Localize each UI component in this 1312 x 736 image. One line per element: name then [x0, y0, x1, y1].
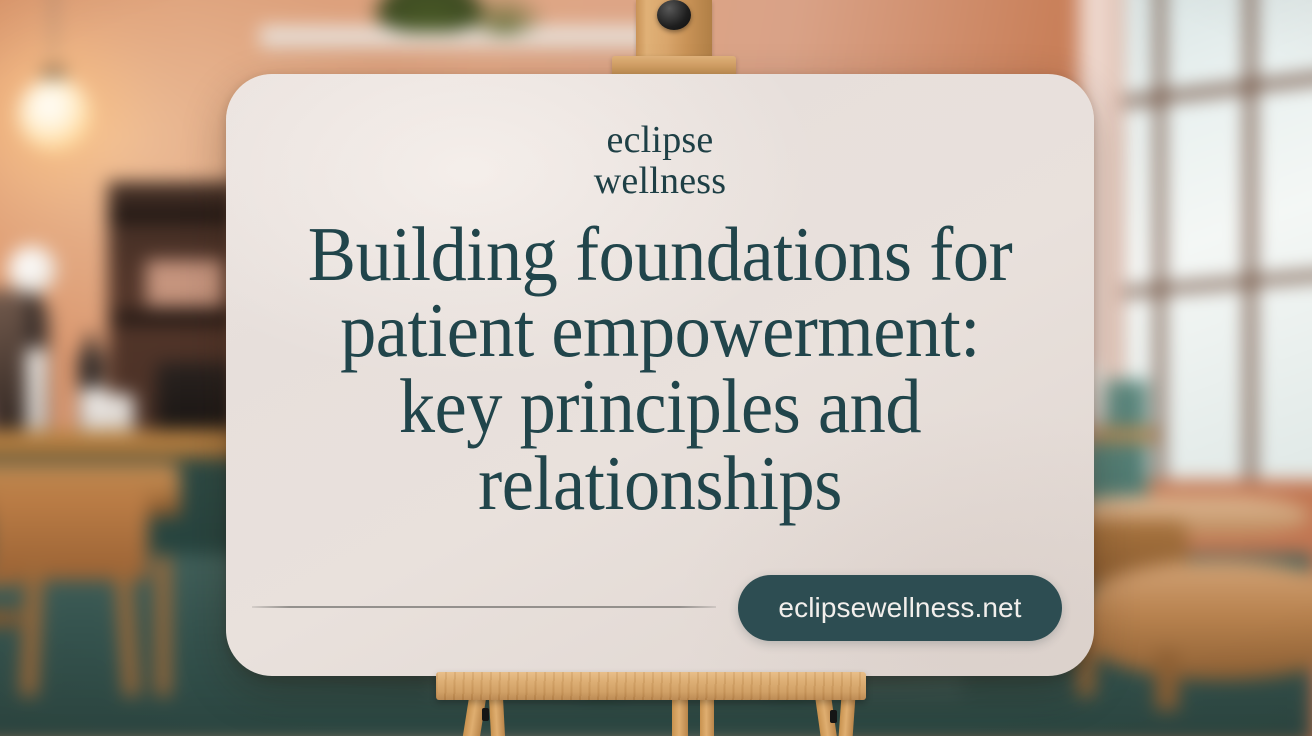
round-table-right [1080, 560, 1312, 680]
sign-board: eclipse wellness Building foundations fo… [226, 74, 1094, 676]
promo-graphic-canvas: eclipse wellness Building foundations fo… [0, 0, 1312, 736]
headline-line-4: relationships [276, 445, 1043, 521]
chair-leg [156, 556, 170, 696]
window-mullion-vertical [1245, 0, 1256, 480]
board-content: eclipse wellness Building foundations fo… [226, 74, 1094, 676]
easel-hardware [482, 708, 489, 721]
pendant-globe-lamp-icon [18, 78, 92, 152]
shelf-board [112, 312, 238, 324]
brand-name-line2: wellness [226, 161, 1094, 202]
website-url-label: eclipsewellness.net [778, 592, 1021, 624]
chair-back [0, 488, 148, 580]
globe-lamp-icon [8, 246, 56, 294]
cafe-counter-top [0, 430, 250, 460]
easel-ledge [436, 672, 866, 700]
headline-line-3: key principles and [276, 368, 1043, 444]
headline-line-1: Building foundations for [276, 216, 1043, 292]
easel-leg [489, 694, 505, 736]
window-mullion-vertical [1155, 0, 1165, 480]
pendant-cord [52, 0, 55, 75]
bottle-icon [26, 348, 47, 440]
headline-line-2: patient empowerment: [276, 292, 1043, 368]
divider [252, 606, 716, 608]
back-shelf [260, 26, 680, 48]
easel-hardware [830, 710, 837, 723]
easel-leg [700, 694, 714, 736]
website-url-pill[interactable]: eclipsewellness.net [738, 575, 1062, 641]
shelf-box [146, 260, 224, 306]
brand-lockup: eclipse wellness [226, 120, 1094, 202]
lamp-stem [28, 286, 38, 344]
shelf-board [108, 208, 238, 222]
page-title: Building foundations for patient empower… [276, 216, 1043, 521]
easel-leg [672, 694, 688, 736]
table-leg [1156, 650, 1178, 710]
bench-slat [0, 610, 20, 626]
brand-name-line1: eclipse [226, 120, 1094, 161]
easel-clamp-knob-icon [657, 0, 691, 30]
